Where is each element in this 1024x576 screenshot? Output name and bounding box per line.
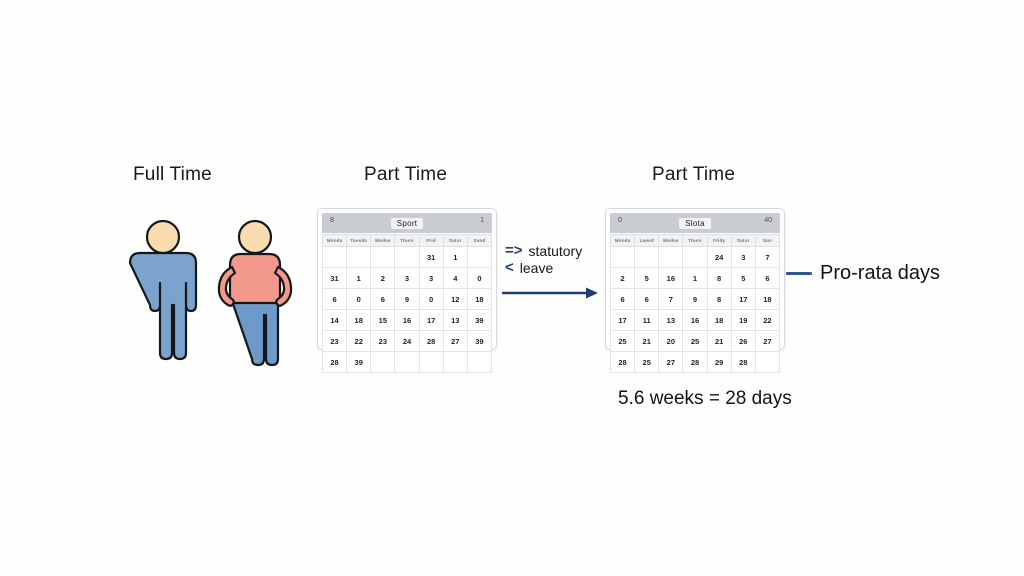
calendar-after-day-cell[interactable]: 5 [635, 268, 659, 289]
calendar-after-day-cell[interactable]: 2 [611, 268, 635, 289]
calendar-before-weekday-0: Monda [323, 235, 347, 247]
calendar-before-day-cell[interactable]: 23 [371, 331, 395, 352]
calendar-after-day-cell[interactable]: 28 [683, 352, 707, 373]
calendar-before-day-cell[interactable]: 6 [371, 289, 395, 310]
calendar-before-day-cell[interactable] [467, 352, 491, 373]
calendar-before-day-cell[interactable]: 3 [419, 268, 443, 289]
calendar-before-prev-icon[interactable]: 8 [330, 217, 334, 224]
calendar-after-grid: MondaLuesdWedneThursFridySaturSun 243725… [610, 234, 780, 373]
calendar-after-weekday-2: Wedne [659, 235, 683, 247]
calendar-after-day-cell[interactable] [611, 247, 635, 268]
calendar-after-day-cell[interactable]: 28 [611, 352, 635, 373]
arrow-symbol-top: => [505, 243, 523, 259]
calendar-before-day-cell[interactable] [395, 247, 419, 268]
calendar-after-day-cell[interactable] [659, 247, 683, 268]
calendar-after-day-cell[interactable]: 11 [635, 310, 659, 331]
statutory-leave-line-one: statutory [529, 243, 583, 260]
calendar-before-day-cell[interactable]: 39 [467, 331, 491, 352]
worker-figures-svg [120, 215, 310, 390]
calendar-before-next-icon[interactable]: 1 [480, 217, 484, 224]
calendar-before-week-row: 2839 [323, 352, 492, 373]
calendar-before-titlebar: 8 Sport 1 [322, 213, 492, 233]
calendar-after-week-row: 282527282928 [611, 352, 780, 373]
calendar-before-day-cell[interactable]: 16 [395, 310, 419, 331]
calendar-after-weekday-4: Fridy [707, 235, 731, 247]
label-part-time-right: Part Time [652, 164, 735, 186]
calendar-before-week-row: 23222324282739 [323, 331, 492, 352]
calendar-before-day-cell[interactable] [371, 352, 395, 373]
calendar-after-week-row: 25161856 [611, 268, 780, 289]
calendar-after-week-row: 2437 [611, 247, 780, 268]
diagram-canvas: Full Time Part Time Part Time [0, 0, 1024, 576]
calendar-after-titlebar: 0 Slota 40 [610, 213, 780, 233]
calendar-before-header-row: MondaTuesdaWedneThursFridSaturSund [323, 235, 492, 247]
pro-rata-legend: Pro-rata days [786, 262, 940, 285]
calendar-before-day-cell[interactable]: 31 [323, 268, 347, 289]
calendar-before-day-cell[interactable]: 28 [419, 331, 443, 352]
calendar-before-day-cell[interactable]: 22 [347, 331, 371, 352]
calendar-before-day-cell[interactable]: 14 [323, 310, 347, 331]
calendar-after-day-cell[interactable]: 8 [707, 268, 731, 289]
calendar-after-day-cell[interactable]: 18 [755, 289, 779, 310]
calendar-before-day-cell[interactable]: 4 [443, 268, 467, 289]
calendar-before-day-cell[interactable] [467, 247, 491, 268]
calendar-before-day-cell[interactable]: 9 [395, 289, 419, 310]
calendar-before-day-cell[interactable]: 28 [323, 352, 347, 373]
calendar-after-day-cell[interactable]: 26 [731, 331, 755, 352]
calendar-after-day-cell[interactable]: 27 [755, 331, 779, 352]
calendar-before-day-cell[interactable]: 1 [443, 247, 467, 268]
calendar-after-day-cell[interactable]: 13 [659, 310, 683, 331]
calendar-after-day-cell[interactable]: 6 [611, 289, 635, 310]
calendar-before-day-cell[interactable]: 0 [467, 268, 491, 289]
calendar-after-title: Slota [679, 218, 711, 229]
calendar-after-header-row: MondaLuesdWedneThursFridySaturSun [611, 235, 780, 247]
calendar-before-grid: MondaTuesdaWedneThursFridSaturSund 31131… [322, 234, 492, 373]
calendar-before-title: Sport [391, 218, 424, 229]
calendar-before-weekday-3: Thurs [395, 235, 419, 247]
calendar-after-day-cell[interactable]: 21 [707, 331, 731, 352]
calendar-before-week-row: 606901218 [323, 289, 492, 310]
calendar-before-day-cell[interactable]: 31 [419, 247, 443, 268]
statutory-leave-annotation: => statutory < leave [505, 243, 605, 277]
calendar-after-day-cell[interactable]: 24 [707, 247, 731, 268]
calendar-before-day-cell[interactable] [371, 247, 395, 268]
calendar-after-day-cell[interactable]: 17 [611, 310, 635, 331]
calendar-after-day-cell[interactable]: 6 [755, 268, 779, 289]
label-full-time: Full Time [133, 164, 212, 186]
full-time-worker-figure [130, 221, 196, 359]
calendar-after-weekday-6: Sun [755, 235, 779, 247]
calendar-after-weekday-1: Luesd [635, 235, 659, 247]
calendar-after-day-cell[interactable]: 19 [731, 310, 755, 331]
calendar-after-day-cell[interactable]: 16 [659, 268, 683, 289]
calendar-after[interactable]: 0 Slota 40 MondaLuesdWedneThursFridySatu… [605, 208, 785, 350]
calendar-before-day-cell[interactable]: 18 [467, 289, 491, 310]
calendar-after-day-cell[interactable]: 25 [635, 352, 659, 373]
calendar-before-day-cell[interactable] [323, 247, 347, 268]
entitlement-caption: 5.6 weeks = 28 days [618, 388, 792, 410]
calendar-after-day-cell[interactable]: 3 [731, 247, 755, 268]
calendar-before-day-cell[interactable]: 17 [419, 310, 443, 331]
calendar-after-day-cell[interactable]: 5 [731, 268, 755, 289]
calendar-before-weekday-5: Satur [443, 235, 467, 247]
calendar-after-day-cell[interactable]: 9 [683, 289, 707, 310]
legend-label: Pro-rata days [820, 262, 940, 285]
calendar-after-weekday-0: Monda [611, 235, 635, 247]
calendar-after-day-cell[interactable] [755, 352, 779, 373]
calendar-after-day-cell[interactable]: 25 [611, 331, 635, 352]
calendar-after-next-icon[interactable]: 40 [764, 217, 772, 224]
calendar-after-week-row: 667981718 [611, 289, 780, 310]
calendar-before-weekday-6: Sund [467, 235, 491, 247]
calendar-before-weekday-1: Tuesda [347, 235, 371, 247]
calendar-before-body: 3113112334060690121814181516171339232223… [323, 247, 492, 373]
calendar-before-day-cell[interactable]: 1 [347, 268, 371, 289]
calendar-before-day-cell[interactable]: 0 [419, 289, 443, 310]
calendar-before-week-row: 14181516171339 [323, 310, 492, 331]
calendar-before-day-cell[interactable]: 15 [371, 310, 395, 331]
calendar-after-day-cell[interactable]: 25 [683, 331, 707, 352]
calendar-after-weekday-3: Thurs [683, 235, 707, 247]
calendar-before-day-cell[interactable]: 24 [395, 331, 419, 352]
calendar-before-day-cell[interactable]: 13 [443, 310, 467, 331]
right-arrow-icon [502, 286, 602, 300]
calendar-after-day-cell[interactable]: 29 [707, 352, 731, 373]
calendar-after-day-cell[interactable]: 16 [683, 310, 707, 331]
calendar-before-day-cell[interactable] [395, 352, 419, 373]
worker-figures-group [120, 215, 310, 390]
calendar-before[interactable]: 8 Sport 1 MondaTuesdaWedneThursFridSatur… [317, 208, 497, 350]
calendar-after-weekday-5: Satur [731, 235, 755, 247]
calendar-after-day-cell[interactable]: 7 [659, 289, 683, 310]
calendar-after-day-cell[interactable]: 8 [707, 289, 731, 310]
calendar-after-day-cell[interactable]: 22 [755, 310, 779, 331]
calendar-before-day-cell[interactable]: 6 [323, 289, 347, 310]
calendar-before-weekday-2: Wedne [371, 235, 395, 247]
calendar-after-day-cell[interactable]: 1 [683, 268, 707, 289]
calendar-after-prev-icon[interactable]: 0 [618, 217, 622, 224]
calendar-after-week-row: 25212025212627 [611, 331, 780, 352]
calendar-before-day-cell[interactable]: 27 [443, 331, 467, 352]
calendar-after-day-cell[interactable]: 27 [659, 352, 683, 373]
calendar-before-day-cell[interactable]: 3 [395, 268, 419, 289]
calendar-before-day-cell[interactable] [443, 352, 467, 373]
calendar-after-day-cell[interactable] [683, 247, 707, 268]
calendar-after-day-cell[interactable]: 17 [731, 289, 755, 310]
calendar-after-day-cell[interactable]: 6 [635, 289, 659, 310]
part-time-worker-figure [219, 221, 291, 365]
calendar-after-week-row: 17111316181922 [611, 310, 780, 331]
calendar-before-day-cell[interactable]: 39 [347, 352, 371, 373]
calendar-before-day-cell[interactable] [419, 352, 443, 373]
label-part-time-left: Part Time [364, 164, 447, 186]
calendar-before-day-cell[interactable]: 23 [323, 331, 347, 352]
calendar-before-weekday-4: Frid [419, 235, 443, 247]
calendar-before-week-row: 311 [323, 247, 492, 268]
calendar-after-day-cell[interactable]: 28 [731, 352, 755, 373]
calendar-after-day-cell[interactable] [635, 247, 659, 268]
calendar-after-day-cell[interactable]: 18 [707, 310, 731, 331]
arrow-symbol-bottom: < [505, 260, 514, 276]
calendar-after-body: 2437251618566679817181711131618192225212… [611, 247, 780, 373]
legend-line-icon [786, 272, 812, 275]
statutory-leave-line-two: leave [520, 260, 553, 277]
calendar-before-day-cell[interactable]: 2 [371, 268, 395, 289]
calendar-before-day-cell[interactable]: 18 [347, 310, 371, 331]
calendar-after-day-cell[interactable]: 7 [755, 247, 779, 268]
calendar-before-day-cell[interactable]: 0 [347, 289, 371, 310]
calendar-after-day-cell[interactable]: 21 [635, 331, 659, 352]
transition-arrow [502, 286, 602, 300]
calendar-before-week-row: 31123340 [323, 268, 492, 289]
calendar-before-day-cell[interactable] [347, 247, 371, 268]
calendar-after-day-cell[interactable]: 20 [659, 331, 683, 352]
calendar-before-day-cell[interactable]: 39 [467, 310, 491, 331]
calendar-before-day-cell[interactable]: 12 [443, 289, 467, 310]
